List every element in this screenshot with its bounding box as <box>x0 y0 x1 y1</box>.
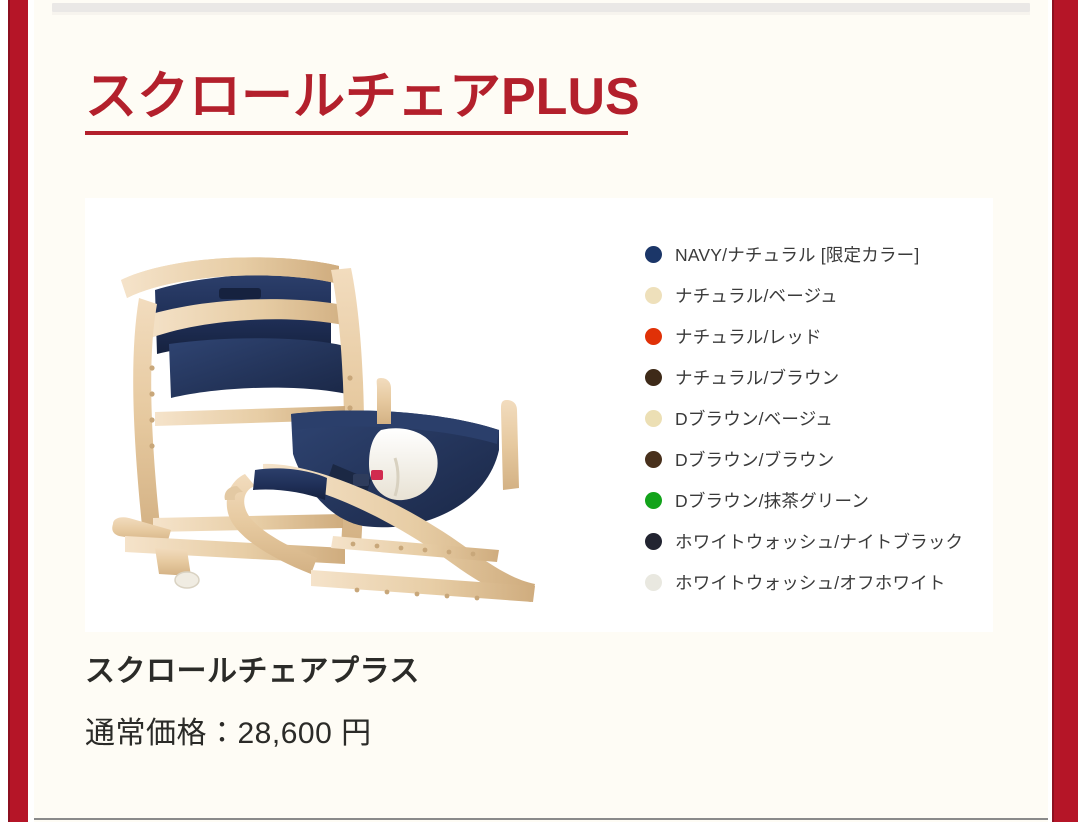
legend-item-label: Dブラウン/ベージュ <box>675 406 833 431</box>
legend-color-swatch <box>645 369 662 386</box>
legend-item[interactable]: NAVY/ナチュラル [限定カラー] <box>645 234 985 275</box>
top-scroll-bar-shadow <box>52 12 1030 15</box>
legend-item-label: Dブラウン/抹茶グリーン <box>675 488 869 513</box>
product-name: スクロールチェアプラス <box>85 646 420 690</box>
legend-item[interactable]: Dブラウン/抹茶グリーン <box>645 480 985 521</box>
bouncer-front-post <box>377 378 391 424</box>
highchair-castor <box>175 572 199 588</box>
product-photo <box>95 218 615 618</box>
right-red-border-inner-line <box>1052 0 1054 822</box>
legend-item-label: ホワイトウォッシュ/オフホワイト <box>675 570 946 595</box>
legend-item-label: ホワイトウォッシュ/ナイトブラック <box>675 529 963 554</box>
product-page: スクロールチェアPLUS <box>0 0 1080 822</box>
legend-item[interactable]: ナチュラル/レッド <box>645 316 985 357</box>
page-title: スクロールチェアPLUS <box>85 70 640 125</box>
top-scroll-bar[interactable] <box>52 3 1030 12</box>
color-legend: NAVY/ナチュラル [限定カラー] ナチュラル/ベージュ ナチュラル/レッド … <box>645 234 985 603</box>
product-card: NAVY/ナチュラル [限定カラー] ナチュラル/ベージュ ナチュラル/レッド … <box>85 198 993 632</box>
page-title-underline <box>85 131 628 135</box>
left-red-border <box>8 0 28 822</box>
product-photo-illustration <box>95 218 615 618</box>
legend-color-swatch <box>645 328 662 345</box>
legend-item-label: NAVY/ナチュラル [限定カラー] <box>675 242 919 267</box>
legend-color-swatch <box>645 574 662 591</box>
page-canvas: スクロールチェアPLUS <box>34 0 1048 822</box>
bottom-divider <box>34 818 1048 820</box>
legend-item[interactable]: ホワイトウォッシュ/オフホワイト <box>645 562 985 603</box>
right-red-border <box>1052 0 1078 822</box>
legend-item-label: ナチュラル/レッド <box>675 324 822 349</box>
legend-item[interactable]: ナチュラル/ブラウン <box>645 357 985 398</box>
legend-color-swatch <box>645 492 662 509</box>
legend-item[interactable]: Dブラウン/ベージュ <box>645 398 985 439</box>
left-red-border-inner-line <box>8 0 10 822</box>
legend-item[interactable]: ホワイトウォッシュ/ナイトブラック <box>645 521 985 562</box>
bouncer-right-post <box>501 400 519 490</box>
legend-color-swatch <box>645 246 662 263</box>
legend-item[interactable]: ナチュラル/ベージュ <box>645 275 985 316</box>
legend-color-swatch <box>645 410 662 427</box>
legend-item-label: ナチュラル/ブラウン <box>675 365 839 390</box>
legend-color-swatch <box>645 287 662 304</box>
legend-item-label: ナチュラル/ベージュ <box>675 283 838 308</box>
legend-item[interactable]: Dブラウン/ブラウン <box>645 439 985 480</box>
product-price: 通常価格：28,600 円 <box>85 708 372 752</box>
legend-item-label: Dブラウン/ブラウン <box>675 447 835 472</box>
legend-color-swatch <box>645 533 662 550</box>
legend-color-swatch <box>645 451 662 468</box>
